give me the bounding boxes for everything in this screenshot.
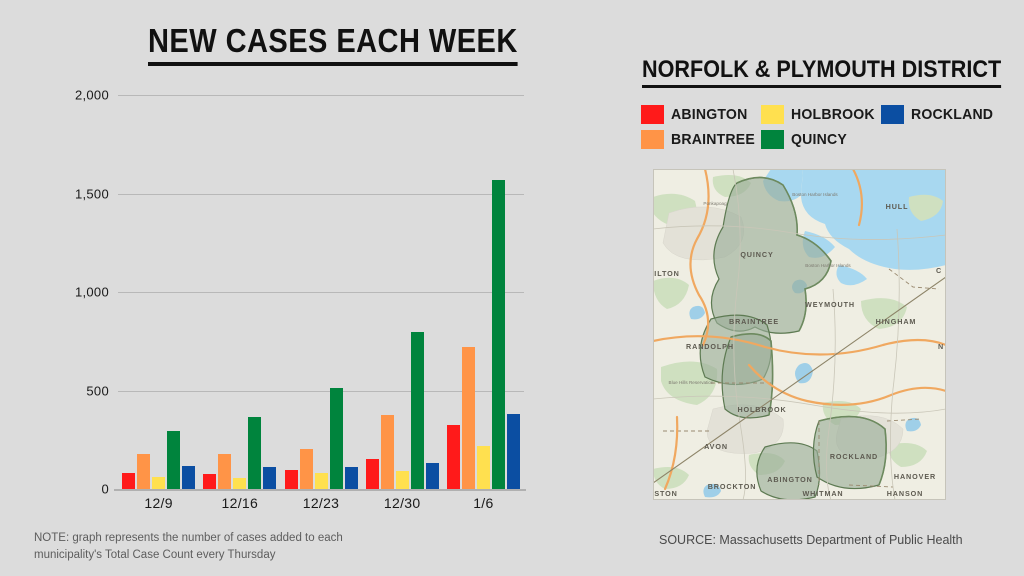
legend-label: HOLBROOK xyxy=(791,106,875,123)
legend-swatch-rockland xyxy=(881,105,904,124)
bar-holbrook xyxy=(233,478,246,489)
bar-groups: 12/912/1612/2312/301/6 xyxy=(118,95,524,489)
svg-text:ABINGTON: ABINGTON xyxy=(767,475,812,484)
svg-text:HOLBROOK: HOLBROOK xyxy=(737,405,786,414)
bar-rockland xyxy=(182,466,195,489)
bar-braintree xyxy=(300,449,313,489)
bar-braintree xyxy=(218,454,231,489)
bar-abington xyxy=(203,474,216,489)
bar-quincy xyxy=(492,180,505,489)
chart-note: NOTE: graph represents the number of cas… xyxy=(34,530,364,563)
chart-title: NEW CASES EACH WEEK xyxy=(148,22,518,66)
district-map-graphic: ILTON QUINCY HULL WEYMOUTH BRAINTREE HIN… xyxy=(653,169,946,500)
svg-text:WEYMOUTH: WEYMOUTH xyxy=(805,300,855,309)
y-axis-tick-label: 2,000 xyxy=(75,88,109,103)
y-axis-tick-label: 1,000 xyxy=(75,285,109,300)
axis-baseline xyxy=(114,489,526,491)
bar-quincy xyxy=(167,431,180,489)
svg-text:Blue Hills Reservation: Blue Hills Reservation xyxy=(669,380,714,385)
legend-swatch-braintree xyxy=(641,130,664,149)
legend-item-rockland: ROCKLAND xyxy=(881,105,1001,124)
legend-item-braintree: BRAINTREE xyxy=(641,130,761,149)
bar-abington xyxy=(122,473,135,489)
y-axis-tick-label: 500 xyxy=(86,383,109,398)
bar-quincy xyxy=(248,417,261,489)
svg-text:HANSON: HANSON xyxy=(887,489,924,498)
svg-text:ILTON: ILTON xyxy=(654,269,679,278)
svg-text:RANDOLPH: RANDOLPH xyxy=(686,342,734,351)
svg-text:HINGHAM: HINGHAM xyxy=(876,317,917,326)
bar-holbrook xyxy=(152,477,165,489)
map-legend: ABINGTONHOLBROOKROCKLANDBRAINTREEQUINCY xyxy=(641,102,1001,152)
bar-holbrook xyxy=(315,473,328,489)
bar-quincy xyxy=(411,332,424,489)
chart-panel: NEW CASES EACH WEEK 05001,0001,5002,000 … xyxy=(0,0,620,576)
legend-swatch-holbrook xyxy=(761,105,784,124)
svg-text:C: C xyxy=(936,266,942,275)
legend-label: ABINGTON xyxy=(671,106,747,123)
x-axis-tick-label: 12/23 xyxy=(303,495,340,511)
bar-group: 12/16 xyxy=(199,95,280,489)
svg-text:Boston Harbor Islands: Boston Harbor Islands xyxy=(805,263,851,268)
legend-item-quincy: QUINCY xyxy=(761,130,881,149)
bar-abington xyxy=(285,470,298,489)
svg-text:HULL: HULL xyxy=(886,202,909,211)
bar-braintree xyxy=(381,415,394,489)
svg-text:N: N xyxy=(938,342,944,351)
bar-group: 12/23 xyxy=(280,95,361,489)
y-axis-tick-label: 0 xyxy=(101,482,109,497)
bar-rockland xyxy=(426,463,439,489)
bar-quincy xyxy=(330,388,343,489)
y-axis-tick-label: 1,500 xyxy=(75,186,109,201)
x-axis-tick-label: 12/16 xyxy=(222,495,259,511)
svg-text:WHITMAN: WHITMAN xyxy=(802,489,843,498)
svg-text:Boston Harbor Islands: Boston Harbor Islands xyxy=(792,192,838,197)
svg-text:ASTON: ASTON xyxy=(653,489,678,498)
map-title: NORFOLK & PLYMOUTH DISTRICT xyxy=(642,56,1001,88)
bar-chart-plot-area: 05001,0001,5002,000 12/912/1612/2312/301… xyxy=(118,95,524,489)
svg-text:ROCKLAND: ROCKLAND xyxy=(830,452,878,461)
x-axis-tick-label: 12/9 xyxy=(144,495,172,511)
x-axis-tick-label: 12/30 xyxy=(384,495,421,511)
legend-label: QUINCY xyxy=(791,131,847,148)
legend-item-abington: ABINGTON xyxy=(641,105,761,124)
bar-holbrook xyxy=(396,471,409,489)
svg-text:Ponkapoag: Ponkapoag xyxy=(703,201,727,206)
x-axis-tick-label: 1/6 xyxy=(473,495,493,511)
bar-braintree xyxy=(462,347,475,489)
map-panel: NORFOLK & PLYMOUTH DISTRICT ABINGTONHOLB… xyxy=(620,0,1024,576)
svg-text:BRAINTREE: BRAINTREE xyxy=(729,317,779,326)
bar-rockland xyxy=(263,467,276,489)
svg-text:QUINCY: QUINCY xyxy=(740,250,773,259)
bar-group: 12/9 xyxy=(118,95,199,489)
bar-abington xyxy=(366,459,379,489)
bar-abington xyxy=(447,425,460,489)
bar-group: 1/6 xyxy=(443,95,524,489)
svg-text:HANOVER: HANOVER xyxy=(894,472,936,481)
bar-braintree xyxy=(137,454,150,489)
svg-text:BROCKTON: BROCKTON xyxy=(708,482,757,491)
legend-label: ROCKLAND xyxy=(911,106,993,123)
legend-item-holbrook: HOLBROOK xyxy=(761,105,881,124)
district-map: ILTON QUINCY HULL WEYMOUTH BRAINTREE HIN… xyxy=(653,169,946,500)
bar-rockland xyxy=(345,467,358,489)
bar-holbrook xyxy=(477,446,490,489)
legend-swatch-abington xyxy=(641,105,664,124)
bar-group: 12/30 xyxy=(362,95,443,489)
legend-swatch-quincy xyxy=(761,130,784,149)
bar-rockland xyxy=(507,414,520,489)
map-source: SOURCE: Massachusetts Department of Publ… xyxy=(659,533,963,547)
svg-text:AVON: AVON xyxy=(704,442,728,451)
legend-label: BRAINTREE xyxy=(671,131,755,148)
